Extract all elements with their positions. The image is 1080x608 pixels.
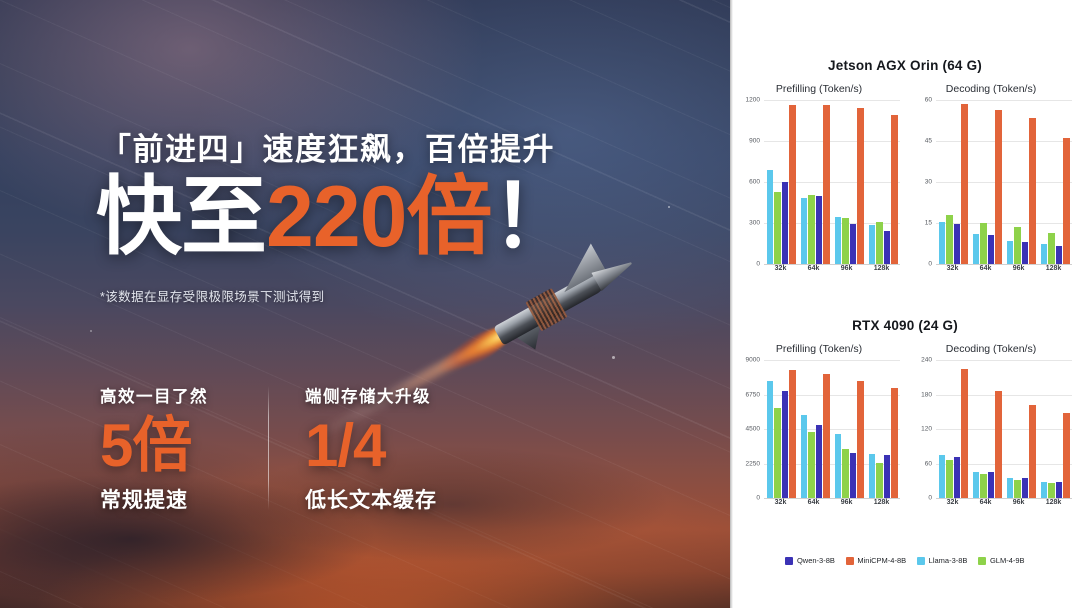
y-tick-label: 9000 [746, 357, 760, 364]
bar-group [767, 360, 796, 498]
bar [869, 225, 876, 264]
big-suffix: 倍 [407, 169, 492, 265]
x-axis: 32k64k96k128k [764, 499, 900, 512]
slide-canvas: 「前进四」速度狂飙，百倍提升 快至220倍！ *该数据在显存受限极限场景下测试得… [0, 0, 1080, 608]
chart-block-title: Jetson AGX Orin (64 G) [730, 58, 1080, 73]
bar [961, 104, 968, 264]
bar [954, 224, 961, 264]
chart-block-jetson: Jetson AGX Orin (64 G) Prefilling (Token… [730, 58, 1080, 313]
y-tick-label: 180 [921, 391, 932, 398]
x-tick-label: 64k [980, 499, 992, 506]
bar-group [1007, 360, 1036, 498]
legend-label: Llama-3-8B [929, 556, 968, 565]
bar [1041, 482, 1048, 498]
hero-headline: 「前进四」速度狂飙，百倍提升 [100, 124, 660, 169]
bar [954, 457, 961, 498]
bar [1022, 242, 1029, 264]
bar [995, 110, 1002, 264]
bar-group-container [764, 100, 900, 264]
legend-item: GLM-4-9B [978, 556, 1024, 565]
bar [988, 472, 995, 498]
bar [850, 453, 857, 498]
bar [850, 224, 857, 264]
legend-label: GLM-4-9B [990, 556, 1025, 565]
bar [842, 218, 849, 264]
x-tick-label: 64k [808, 499, 820, 506]
bar-group [939, 100, 968, 264]
bar [842, 449, 849, 498]
bar-group [767, 100, 796, 264]
y-tick-label: 60 [925, 97, 932, 104]
bar [823, 374, 830, 498]
bar [980, 223, 987, 264]
x-tick-label: 32k [947, 499, 959, 506]
bar-group [835, 360, 864, 498]
chart-prefilling-rtx: Prefilling (Token/s) 0225045006750900032… [736, 343, 902, 512]
bar [767, 170, 774, 264]
y-axis: 060120180240 [908, 360, 935, 512]
bar [1063, 413, 1070, 498]
stat-number: 1/4 [305, 416, 495, 476]
legend-swatch [785, 557, 793, 565]
bar [801, 198, 808, 264]
bar-group-container [936, 360, 1072, 498]
legend-label: Qwen-3-8B [797, 556, 835, 565]
y-axis: 02250450067509000 [736, 360, 763, 512]
bar [988, 235, 995, 264]
y-tick-label: 120 [921, 426, 932, 433]
stat-subtitle: 常规提速 [100, 484, 290, 514]
bar [884, 455, 891, 498]
bar-group [973, 100, 1002, 264]
stat-subtitle: 低长文本缓存 [305, 484, 495, 514]
bar [767, 381, 774, 498]
bar [1007, 241, 1014, 264]
x-tick-label: 96k [1013, 499, 1025, 506]
chart-subtitle: Prefilling (Token/s) [736, 83, 902, 95]
bar [1063, 138, 1070, 264]
bar [1056, 482, 1063, 498]
bar-plot: 06012018024032k64k96k128k [908, 360, 1074, 512]
y-tick-label: 0 [928, 261, 932, 268]
bar-plot: 01530456032k64k96k128k [908, 100, 1074, 278]
bar [980, 474, 987, 498]
bar-plot: 0225045006750900032k64k96k128k [736, 360, 902, 512]
y-tick-label: 240 [921, 357, 932, 364]
x-tick-label: 32k [775, 265, 787, 272]
chart-block-title: RTX 4090 (24 G) [730, 318, 1080, 333]
y-tick-label: 300 [749, 220, 760, 227]
bar [816, 425, 823, 498]
y-tick-label: 60 [925, 460, 932, 467]
bar [939, 455, 946, 498]
big-prefix: 快至 [96, 169, 266, 265]
bar [1056, 246, 1063, 264]
bar [1022, 478, 1029, 498]
y-tick-label: 900 [749, 138, 760, 145]
bar [946, 460, 953, 498]
bar [857, 381, 864, 498]
chart-block-rtx: RTX 4090 (24 G) Prefilling (Token/s) 022… [730, 318, 1080, 543]
stat-caption: 高效一目了然 [100, 383, 290, 407]
bar [961, 369, 968, 498]
x-tick-label: 64k [808, 265, 820, 272]
y-tick-label: 30 [925, 179, 932, 186]
stat-caption: 端侧存储大升级 [305, 383, 495, 407]
bar [808, 432, 815, 498]
y-tick-label: 0 [756, 495, 760, 502]
bar-group [801, 360, 830, 498]
bar-group [1007, 100, 1036, 264]
x-axis: 32k64k96k128k [936, 265, 1072, 278]
bar [1029, 118, 1036, 264]
bar [891, 388, 898, 498]
big-exclamation: ！ [492, 169, 577, 265]
plot-area [936, 100, 1072, 264]
bar-group-container [936, 100, 1072, 264]
legend-item: Qwen-3-8B [785, 556, 834, 565]
x-axis: 32k64k96k128k [764, 265, 900, 278]
legend-item: MiniCPM-4-8B [846, 556, 906, 565]
x-tick-label: 96k [841, 265, 853, 272]
star-dot [90, 330, 92, 332]
chart-subtitle: Decoding (Token/s) [908, 343, 1074, 355]
bar [774, 192, 781, 264]
bar-plot: 0300600900120032k64k96k128k [736, 100, 902, 278]
x-axis: 32k64k96k128k [936, 499, 1072, 512]
bar [1048, 483, 1055, 498]
bar [946, 215, 953, 264]
benchmark-panel: Jetson AGX Orin (64 G) Prefilling (Token… [730, 0, 1080, 608]
bar [973, 472, 980, 498]
bar [835, 217, 842, 264]
plot-area [764, 100, 900, 264]
bar-group [1041, 100, 1070, 264]
y-axis: 03006009001200 [736, 100, 763, 278]
plot-area [936, 360, 1072, 498]
y-tick-label: 0 [756, 261, 760, 268]
hero-section: 「前进四」速度狂飙，百倍提升 快至220倍！ *该数据在显存受限极限场景下测试得… [0, 0, 730, 608]
y-axis: 015304560 [908, 100, 935, 278]
bar [891, 115, 898, 264]
bar [1014, 227, 1021, 264]
x-tick-label: 128k [874, 265, 890, 272]
bar [876, 222, 883, 264]
stats-divider [268, 386, 269, 510]
chart-decoding-rtx: Decoding (Token/s) 06012018024032k64k96k… [908, 343, 1074, 512]
bar [1048, 233, 1055, 264]
bar-group [835, 100, 864, 264]
y-tick-label: 2250 [746, 460, 760, 467]
bar [801, 415, 808, 498]
bar [782, 391, 789, 498]
y-tick-label: 45 [925, 138, 932, 145]
hero-big-statement: 快至220倍！ [96, 174, 696, 260]
bar [823, 105, 830, 264]
bar-group [939, 360, 968, 498]
chart-prefilling-jetson: Prefilling (Token/s) 0300600900120032k64… [736, 83, 902, 278]
big-number: 220 [266, 169, 407, 265]
stat-card-speedup: 高效一目了然 5倍 常规提速 [100, 383, 290, 514]
stat-number: 5倍 [100, 416, 290, 476]
x-tick-label: 96k [1013, 265, 1025, 272]
y-tick-label: 6750 [746, 391, 760, 398]
y-tick-label: 0 [928, 495, 932, 502]
chart-subtitle: Prefilling (Token/s) [736, 343, 902, 355]
legend-swatch [917, 557, 925, 565]
bar [995, 391, 1002, 498]
x-tick-label: 32k [775, 499, 787, 506]
hero-stats: 高效一目了然 5倍 常规提速 端侧存储大升级 1/4 低长文本缓存 [100, 383, 520, 518]
bar [1014, 480, 1021, 498]
y-tick-label: 600 [749, 179, 760, 186]
plot-area [764, 360, 900, 498]
bar-group [973, 360, 1002, 498]
legend-swatch [846, 557, 854, 565]
bar-group [869, 100, 898, 264]
chart-decoding-jetson: Decoding (Token/s) 01530456032k64k96k128… [908, 83, 1074, 278]
bar [884, 231, 891, 264]
y-tick-label: 15 [925, 220, 932, 227]
star-dot [612, 356, 615, 359]
stat-card-cache: 端侧存储大升级 1/4 低长文本缓存 [305, 383, 495, 514]
x-tick-label: 96k [841, 499, 853, 506]
bar [939, 222, 946, 264]
bar [835, 434, 842, 498]
legend-item: Llama-3-8B [917, 556, 967, 565]
bar-group [801, 100, 830, 264]
bar [782, 182, 789, 264]
x-tick-label: 128k [1046, 499, 1062, 506]
bar [789, 370, 796, 498]
bar [973, 234, 980, 264]
panel-edge-shadow [730, 0, 733, 608]
chart-legend: Qwen-3-8BMiniCPM-4-8BLlama-3-8BGLM-4-9B [730, 556, 1080, 565]
bar [1029, 405, 1036, 498]
bar-group [1041, 360, 1070, 498]
x-tick-label: 32k [947, 265, 959, 272]
bar [876, 463, 883, 498]
legend-label: MiniCPM-4-8B [857, 556, 906, 565]
hero-footnote: *该数据在显存受限极限场景下测试得到 [100, 286, 325, 305]
bar-group [869, 360, 898, 498]
bar [1007, 478, 1014, 498]
bar-group-container [764, 360, 900, 498]
x-tick-label: 128k [874, 499, 890, 506]
bar [869, 454, 876, 498]
chart-subtitle: Decoding (Token/s) [908, 83, 1074, 95]
legend-swatch [978, 557, 986, 565]
bar [774, 408, 781, 498]
bar [857, 108, 864, 264]
bar [789, 105, 796, 264]
bar [1041, 244, 1048, 265]
x-tick-label: 128k [1046, 265, 1062, 272]
bar [808, 195, 815, 264]
y-tick-label: 1200 [746, 97, 760, 104]
x-tick-label: 64k [980, 265, 992, 272]
y-tick-label: 4500 [746, 426, 760, 433]
bar [816, 196, 823, 264]
